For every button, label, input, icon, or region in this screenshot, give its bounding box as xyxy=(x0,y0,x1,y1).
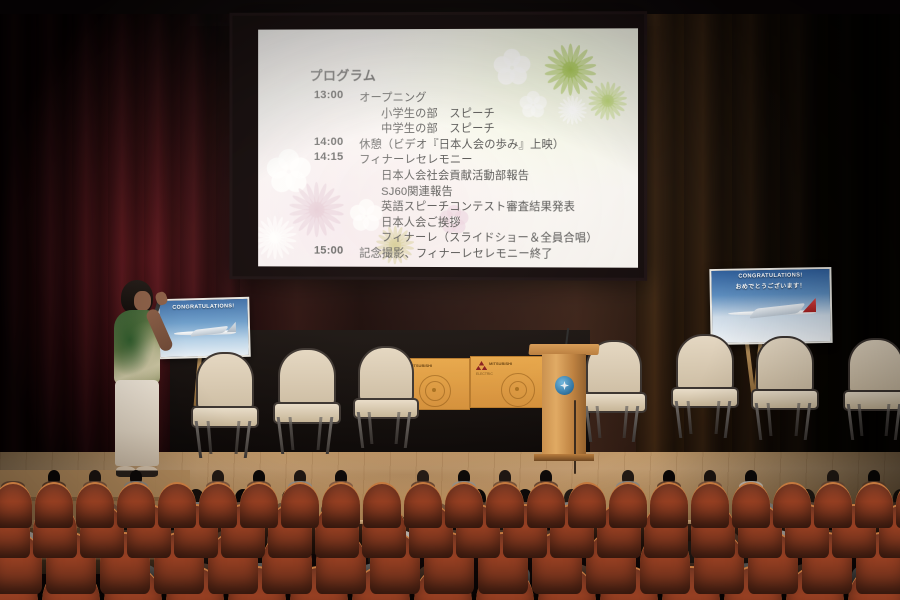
theater-seat xyxy=(814,482,852,528)
theater-seat xyxy=(445,482,483,528)
panel-brand-right: MITSUBISHI xyxy=(489,361,512,366)
audience-seating xyxy=(0,470,900,600)
stage-chair xyxy=(586,340,638,440)
program-time: 14:00 xyxy=(300,136,344,152)
program-time xyxy=(300,198,344,214)
theater-seat xyxy=(240,482,278,528)
airplane-graphic xyxy=(728,297,817,329)
audio-cable xyxy=(574,400,576,474)
program-time xyxy=(300,120,344,136)
theater-seat xyxy=(363,482,401,528)
poster-right-artwork: CONGRATULATIONS! おめでとうございます！ xyxy=(711,269,830,343)
chair-seat xyxy=(843,390,900,411)
program-row: 中学生の部 スピーチ xyxy=(300,120,495,136)
theater-seat xyxy=(404,482,442,528)
slide-title: プログラム xyxy=(310,65,377,84)
program-item: SJ60関連報告 xyxy=(359,183,453,199)
chair-back xyxy=(358,346,414,404)
panel-sub-right: ELECTRIC xyxy=(476,372,493,376)
venue-emblem xyxy=(555,376,574,395)
poster-right-caption: CONGRATULATIONS! xyxy=(711,272,829,280)
program-time: 14:15 xyxy=(300,151,344,167)
stage-chair xyxy=(676,334,730,436)
stage-chair xyxy=(196,352,250,456)
program-item: 休憩（ビデオ『日本人会の歩み』上映） xyxy=(359,136,564,152)
theater-seat xyxy=(568,482,606,528)
theater-seat xyxy=(158,482,196,528)
mitsubishi-logo-icon xyxy=(476,361,487,370)
program-time xyxy=(300,105,344,121)
program-item: フィナーレ（スライドショー＆全員合唱） xyxy=(359,229,598,246)
chair-back xyxy=(676,334,734,393)
program-item: 日本人会社会貢献活動部報告 xyxy=(359,167,529,183)
theater-seat xyxy=(691,482,729,528)
program-row: SJ60関連報告 xyxy=(300,182,453,198)
stage-chair xyxy=(358,346,410,446)
theater-seat xyxy=(527,482,565,528)
program-item: オープニング xyxy=(359,89,426,105)
chair-back xyxy=(196,352,254,412)
program-row: 小学生の部 スピーチ xyxy=(300,105,495,121)
stage-chair xyxy=(756,336,810,438)
theater-seat xyxy=(35,482,73,528)
presenter xyxy=(104,280,176,488)
airplane-graphic xyxy=(174,321,237,345)
program-item: 記念撮影、フィナーレセレモニー終了 xyxy=(359,245,552,262)
presenter-skirt xyxy=(115,380,159,466)
theater-seat xyxy=(117,482,155,528)
program-row: 英語スピーチコンテスト審査結果発表 xyxy=(300,198,575,214)
projection-screen-frame: プログラム 13:00オープニング小学生の部 スピーチ中学生の部 スピーチ14:… xyxy=(229,11,647,281)
poster-right-subcaption: おめでとうございます！ xyxy=(712,280,830,291)
program-row: 15:00記念撮影、フィナーレセレモニー終了 xyxy=(300,245,553,262)
program-item: フィナーレセレモニー xyxy=(359,151,472,167)
lectern-body xyxy=(542,354,586,460)
theater-seat xyxy=(609,482,647,528)
stage-chair xyxy=(278,348,332,452)
theater-seat xyxy=(281,482,319,528)
theater-seat xyxy=(0,482,32,528)
lectern xyxy=(536,344,592,460)
program-item: 中学生の部 スピーチ xyxy=(359,120,495,136)
stage-chair xyxy=(848,338,900,438)
program-item: 小学生の部 スピーチ xyxy=(359,105,495,121)
lectern-base xyxy=(534,454,594,461)
program-row: 14:00休憩（ビデオ『日本人会の歩み』上映） xyxy=(300,136,565,152)
projected-slide: プログラム 13:00オープニング小学生の部 スピーチ中学生の部 スピーチ14:… xyxy=(258,28,638,267)
theater-seat xyxy=(322,482,360,528)
program-time xyxy=(300,214,344,230)
program-row: 14:15フィナーレセレモニー xyxy=(300,151,473,167)
chair-back xyxy=(278,348,336,408)
theater-seat xyxy=(199,482,237,528)
program-row: 日本人会社会貢献活動部報告 xyxy=(300,167,530,183)
theater-seat xyxy=(76,482,114,528)
program-item: 英語スピーチコンテスト審査結果発表 xyxy=(359,198,575,214)
program-time: 13:00 xyxy=(300,89,344,105)
program-row: 13:00オープニング xyxy=(300,89,427,105)
program-time xyxy=(300,229,344,245)
chair-back xyxy=(848,338,900,396)
program-row: フィナーレ（スライドショー＆全員合唱） xyxy=(300,229,598,246)
program-time xyxy=(300,167,344,183)
theater-seat xyxy=(732,482,770,528)
program-row: 日本人会ご挨拶 xyxy=(300,214,461,230)
auditorium-photo: プログラム 13:00オープニング小学生の部 スピーチ中学生の部 スピーチ14:… xyxy=(0,0,900,600)
program-time xyxy=(300,182,344,198)
theater-seat xyxy=(773,482,811,528)
chair-back xyxy=(756,336,814,395)
theater-seat xyxy=(650,482,688,528)
program-item: 日本人会ご挨拶 xyxy=(359,214,460,230)
presenter-face xyxy=(134,291,151,311)
theater-seat xyxy=(486,482,524,528)
program-list: 13:00オープニング小学生の部 スピーチ中学生の部 スピーチ14:00休憩（ビ… xyxy=(258,28,638,29)
program-time: 15:00 xyxy=(300,245,344,261)
theater-seat xyxy=(855,482,893,528)
